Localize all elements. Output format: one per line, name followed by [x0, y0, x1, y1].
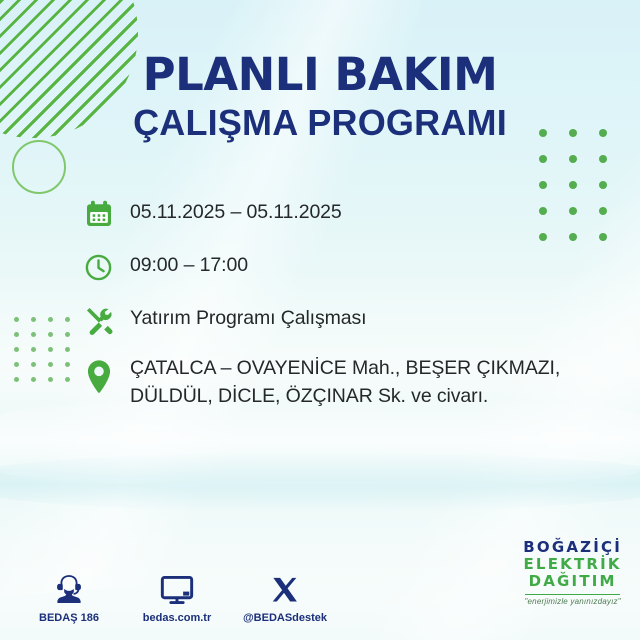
date-range-text: 05.11.2025 – 05.11.2025: [130, 196, 342, 227]
poster-footer: BEDAŞ 186 bedas.com.tr: [0, 546, 640, 624]
tools-icon: [84, 302, 130, 338]
call-center-agent-icon: [52, 568, 86, 606]
location-pin-icon: [84, 355, 130, 407]
contact-phone-label: BEDAŞ 186: [39, 612, 99, 624]
contact-website-label: bedas.com.tr: [143, 612, 211, 624]
detail-row-date: 05.11.2025 – 05.11.2025: [84, 196, 580, 232]
detail-row-time: 09:00 – 17:00: [84, 249, 580, 285]
dot-grid-left-decoration: [8, 312, 76, 387]
maintenance-details: 05.11.2025 – 05.11.2025 09:00 – 17:00: [84, 196, 580, 410]
detail-row-location: ÇATALCA – OVAYENİCE Mah., BEŞER ÇIKMAZI,…: [84, 355, 580, 410]
contact-x[interactable]: @BEDASdestek: [242, 568, 328, 624]
contact-channels: BEDAŞ 186 bedas.com.tr: [26, 568, 328, 624]
monitor-icon: [159, 568, 195, 606]
page-title: PLANLI BAKIM: [0, 52, 640, 98]
x-twitter-icon: [270, 568, 301, 606]
time-range-text: 09:00 – 17:00: [130, 249, 248, 280]
contact-x-label: @BEDASdestek: [243, 612, 327, 624]
poster-header: PLANLI BAKIM ÇALIŞMA PROGRAMI: [0, 52, 640, 144]
wave-band-decoration-secondary: [0, 452, 640, 512]
calendar-icon: [84, 196, 130, 232]
location-text: ÇATALCA – OVAYENİCE Mah., BEŞER ÇIKMAZI,…: [130, 355, 580, 410]
bedas-logo: BOĞAZİÇİ ELEKTRİK DAĞITIM "enerjimizle y…: [523, 540, 622, 606]
circle-outline-decoration: [12, 140, 66, 194]
contact-website[interactable]: bedas.com.tr: [134, 568, 220, 624]
brand-line-elektrik: ELEKTRİK: [523, 557, 622, 572]
work-type-text: Yatırım Programı Çalışması: [130, 302, 367, 333]
contact-phone[interactable]: BEDAŞ 186: [26, 568, 112, 624]
planned-maintenance-poster: PLANLI BAKIM ÇALIŞMA PROGRAMI: [0, 0, 640, 640]
page-subtitle: ÇALIŞMA PROGRAMI: [0, 102, 640, 144]
detail-row-work-type: Yatırım Programı Çalışması: [84, 302, 580, 338]
brand-divider: [525, 594, 620, 595]
brand-line-dagitim: DAĞITIM: [523, 574, 622, 589]
brand-line-bogazici: BOĞAZİÇİ: [523, 540, 622, 555]
brand-tagline: "enerjimizle yanınızdayız": [523, 598, 622, 606]
clock-icon: [84, 249, 130, 285]
